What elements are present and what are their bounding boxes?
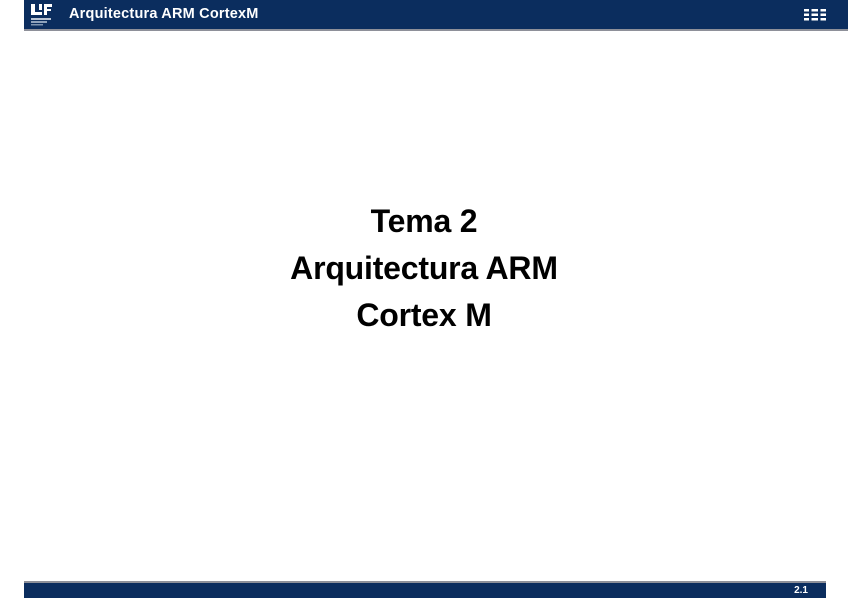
slide-footer-bar: 2.1 bbox=[24, 581, 826, 598]
slide-title-block: Tema 2 Arquitectura ARM Cortex M bbox=[24, 198, 824, 339]
slide-title-line-3: Cortex M bbox=[24, 292, 824, 339]
university-logo-icon bbox=[29, 2, 57, 28]
slide-title-line-2: Arquitectura ARM bbox=[24, 245, 824, 292]
presentation-slide: Arquitectura ARM CortexM Tema 2 Arquitec… bbox=[0, 0, 848, 599]
header-title: Arquitectura ARM CortexM bbox=[69, 0, 259, 29]
slide-title-line-1: Tema 2 bbox=[24, 198, 824, 245]
slide-header-bar: Arquitectura ARM CortexM bbox=[24, 0, 848, 31]
department-logo-icon bbox=[803, 7, 827, 23]
page-number: 2.1 bbox=[794, 583, 808, 598]
